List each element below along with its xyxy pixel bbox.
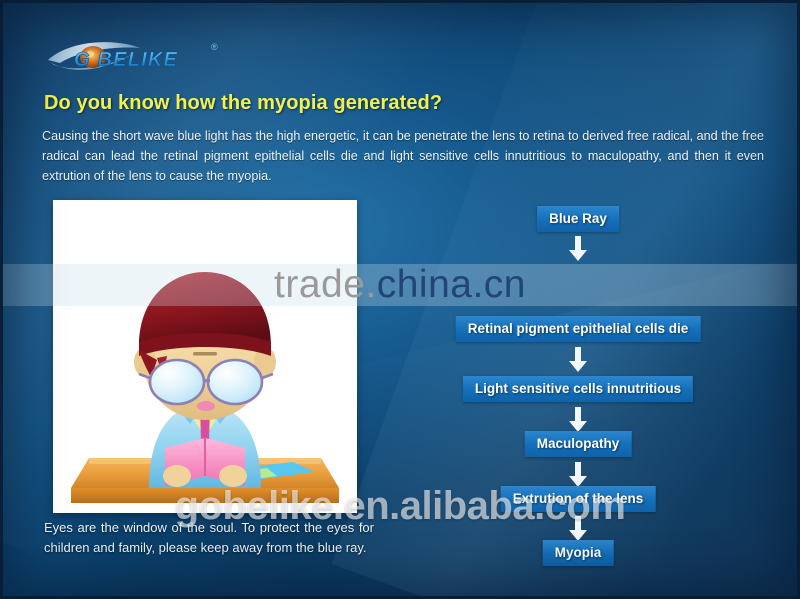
flow-step-maculopathy[interactable]: Maculopathy (525, 431, 632, 457)
svg-text:G BELIKE: G BELIKE (74, 49, 178, 71)
myopia-flowchart: Blue Ray Retinal pigment epithelial cell… (388, 200, 768, 580)
flow-step-retinal-pigment-cells-die[interactable]: Retinal pigment epithelial cells die (456, 316, 701, 342)
body-paragraph: Causing the short wave blue light has th… (42, 126, 764, 186)
flow-step-light-sensitive-cells[interactable]: Light sensitive cells innutritious (463, 376, 693, 402)
flow-arrow-down-icon-5 (568, 516, 588, 542)
flow-step-extrution-of-the-lens[interactable]: Extrution of the lens (501, 486, 656, 512)
brand-logo[interactable]: G BELIKE ® (44, 36, 244, 74)
flow-step-blue-ray[interactable]: Blue Ray (537, 206, 619, 232)
slide-canvas: G BELIKE ® Do you know how the myopia ge… (0, 0, 800, 599)
flow-arrow-down-icon-3 (568, 407, 588, 433)
illustration-caption: Eyes are the window of the soul. To prot… (44, 518, 374, 558)
page-title: Do you know how the myopia generated? (44, 92, 442, 115)
flow-arrow-down-icon-2 (568, 347, 588, 373)
illustration-child-reading (53, 200, 357, 513)
flow-arrow-down-icon-4 (568, 462, 588, 488)
flow-step-myopia[interactable]: Myopia (543, 540, 614, 566)
registered-trademark-symbol: ® (211, 42, 218, 52)
flow-arrow-down-icon-1 (568, 236, 588, 262)
